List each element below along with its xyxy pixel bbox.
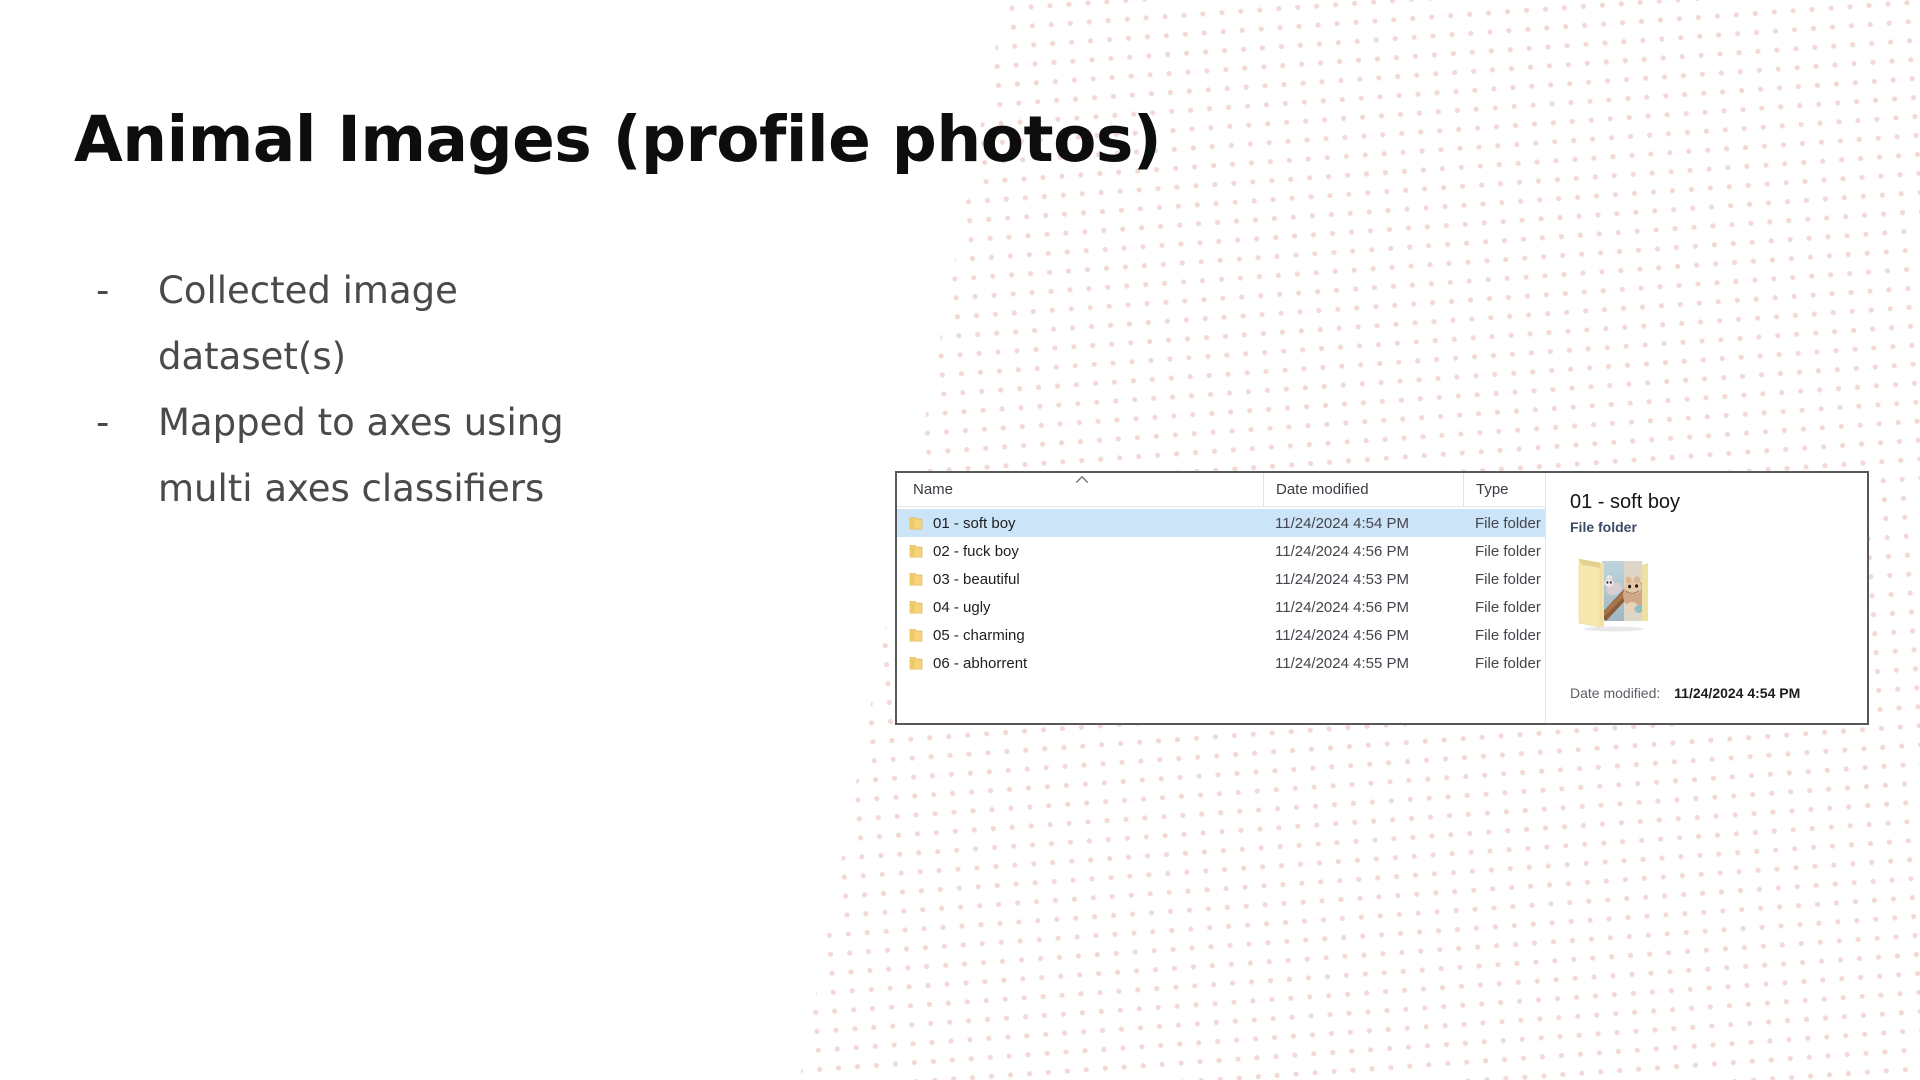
table-row[interactable]: 02 - fuck boy 11/24/2024 4:56 PM File fo… (897, 537, 1545, 565)
file-list-pane[interactable]: Name Date modified Type (897, 473, 1545, 723)
table-row[interactable]: 04 - ugly 11/24/2024 4:56 PM File folder (897, 593, 1545, 621)
file-name-text: 06 - abhorrent (933, 655, 1027, 672)
bullet-text: Mapped to axes using multi axes classifi… (158, 390, 566, 522)
folder-icon (909, 600, 923, 615)
file-type-cell: File folder (1463, 655, 1545, 672)
detail-subtitle: File folder (1570, 519, 1867, 535)
page-title: Animal Images (profile photos) (74, 106, 1161, 174)
folder-icon (909, 544, 923, 559)
file-explorer-window[interactable]: Name Date modified Type (895, 471, 1869, 725)
detail-date-label: Date modified: (1570, 685, 1660, 701)
file-name-text: 03 - beautiful (933, 571, 1020, 588)
folder-thumbnail-preview (1570, 549, 1660, 633)
file-date-cell: 11/24/2024 4:54 PM (1263, 515, 1463, 532)
bullet-text: Collected image dataset(s) (158, 258, 566, 390)
folder-icon (909, 516, 923, 531)
file-name-cell: 06 - abhorrent (897, 655, 1263, 672)
folder-icon (909, 628, 923, 643)
file-date-cell: 11/24/2024 4:53 PM (1263, 571, 1463, 588)
file-date-cell: 11/24/2024 4:56 PM (1263, 627, 1463, 644)
table-row[interactable]: 05 - charming 11/24/2024 4:56 PM File fo… (897, 621, 1545, 649)
file-name-text: 01 - soft boy (933, 515, 1016, 532)
file-name-cell: 05 - charming (897, 627, 1263, 644)
bullet-marker: - (96, 390, 158, 456)
detail-date-modified: Date modified: 11/24/2024 4:54 PM (1570, 685, 1800, 701)
file-date-cell: 11/24/2024 4:55 PM (1263, 655, 1463, 672)
file-type-cell: File folder (1463, 599, 1545, 616)
file-type-cell: File folder (1463, 571, 1545, 588)
column-header-type[interactable]: Type (1463, 473, 1545, 506)
file-rows: 01 - soft boy 11/24/2024 4:54 PM File fo… (897, 507, 1545, 723)
bullet-marker: - (96, 258, 158, 324)
detail-date-value: 11/24/2024 4:54 PM (1674, 685, 1800, 701)
file-name-cell: 03 - beautiful (897, 571, 1263, 588)
folder-icon (909, 572, 923, 587)
file-name-text: 02 - fuck boy (933, 543, 1019, 560)
file-date-cell: 11/24/2024 4:56 PM (1263, 543, 1463, 560)
file-name-text: 04 - ugly (933, 599, 991, 616)
details-pane: 01 - soft boy File folder (1545, 473, 1867, 723)
column-header-date-label: Date modified (1276, 481, 1369, 498)
table-row[interactable]: 06 - abhorrent 11/24/2024 4:55 PM File f… (897, 649, 1545, 677)
file-name-cell: 02 - fuck boy (897, 543, 1263, 560)
table-row[interactable]: 03 - beautiful 11/24/2024 4:53 PM File f… (897, 565, 1545, 593)
list-item: - Collected image dataset(s) (96, 258, 566, 390)
file-type-cell: File folder (1463, 515, 1545, 532)
folder-icon (909, 656, 923, 671)
file-type-cell: File folder (1463, 627, 1545, 644)
column-header-name-label: Name (913, 481, 953, 498)
column-header-date-modified[interactable]: Date modified (1263, 473, 1463, 506)
list-item: - Mapped to axes using multi axes classi… (96, 390, 566, 522)
bullet-list: - Collected image dataset(s) - Mapped to… (96, 258, 566, 522)
file-name-cell: 01 - soft boy (897, 515, 1263, 532)
column-header-row: Name Date modified Type (897, 473, 1545, 507)
file-date-cell: 11/24/2024 4:56 PM (1263, 599, 1463, 616)
file-type-cell: File folder (1463, 543, 1545, 560)
file-name-cell: 04 - ugly (897, 599, 1263, 616)
column-header-type-label: Type (1476, 481, 1509, 498)
table-row[interactable]: 01 - soft boy 11/24/2024 4:54 PM File fo… (897, 509, 1545, 537)
file-name-text: 05 - charming (933, 627, 1025, 644)
detail-title: 01 - soft boy (1570, 491, 1867, 514)
sort-ascending-caret-icon (1075, 475, 1089, 484)
